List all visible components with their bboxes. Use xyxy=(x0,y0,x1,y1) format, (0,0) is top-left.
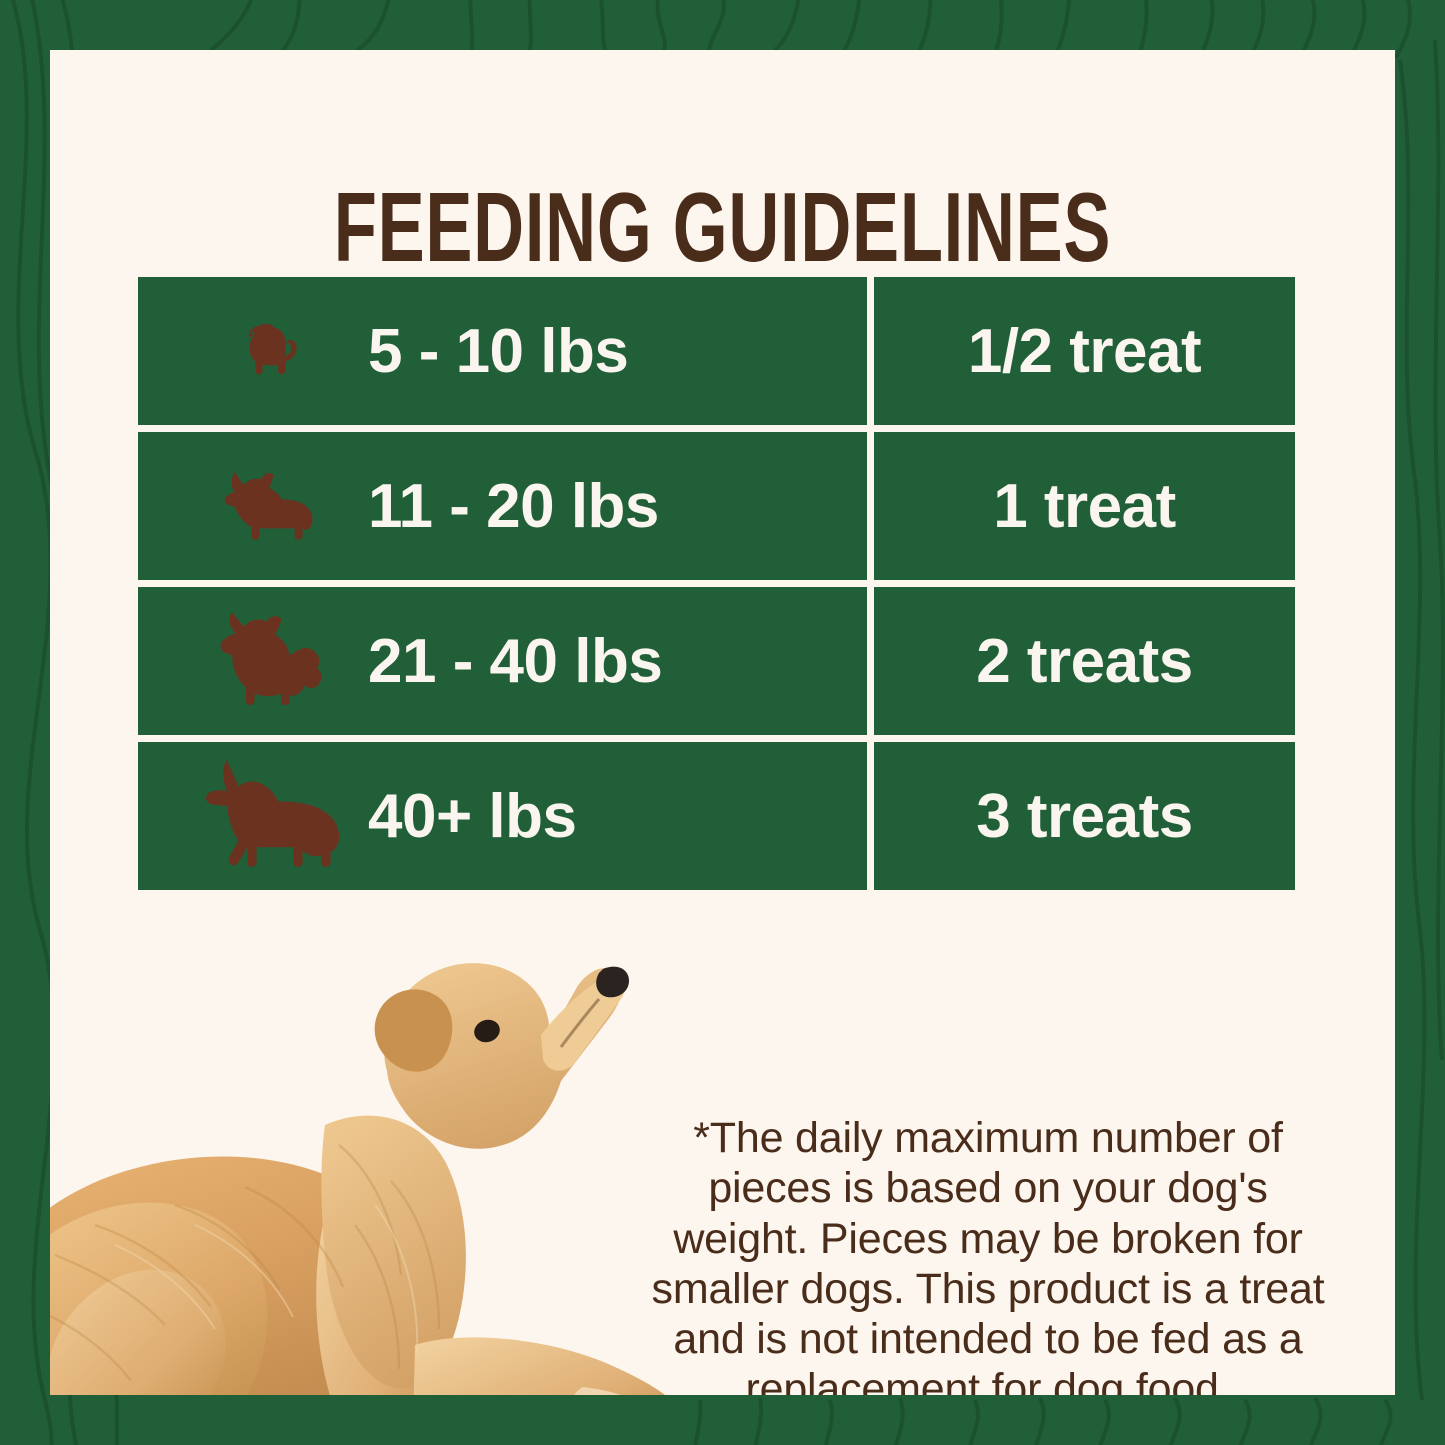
treat-cell: 3 treats xyxy=(874,742,1295,890)
treat-cell: 2 treats xyxy=(874,587,1295,735)
weight-label: 40+ lbs xyxy=(368,781,576,852)
weight-label: 21 - 40 lbs xyxy=(368,626,662,697)
golden-retriever-photo xyxy=(50,925,735,1395)
weight-cell: 11 - 20 lbs xyxy=(138,432,867,580)
feeding-table: 5 - 10 lbs 1/2 treat 11 - 20 lbs xyxy=(138,277,1295,890)
treat-cell: 1/2 treat xyxy=(874,277,1295,425)
weight-cell: 21 - 40 lbs xyxy=(138,587,867,735)
small-dog-icon xyxy=(178,291,368,411)
table-row: 40+ lbs 3 treats xyxy=(138,742,1295,890)
treat-label: 1/2 treat xyxy=(968,316,1201,387)
weight-label: 11 - 20 lbs xyxy=(368,471,659,542)
feeding-guidelines-poster: FEEDING GUIDELINES 5 - 10 lbs 1/2 treat xyxy=(0,0,1445,1445)
table-row: 21 - 40 lbs 2 treats xyxy=(138,587,1295,735)
treat-cell: 1 treat xyxy=(874,432,1295,580)
medium-dog-icon xyxy=(178,601,368,721)
table-row: 5 - 10 lbs 1/2 treat xyxy=(138,277,1295,425)
large-dog-icon xyxy=(178,756,368,876)
treat-label: 2 treats xyxy=(976,626,1193,697)
weight-cell: 5 - 10 lbs xyxy=(138,277,867,425)
content-panel: FEEDING GUIDELINES 5 - 10 lbs 1/2 treat xyxy=(50,50,1395,1395)
weight-cell: 40+ lbs xyxy=(138,742,867,890)
footnote-text: *The daily maximum number of pieces is b… xyxy=(638,1113,1338,1395)
weight-label: 5 - 10 lbs xyxy=(368,316,628,387)
treat-label: 3 treats xyxy=(976,781,1193,852)
table-row: 11 - 20 lbs 1 treat xyxy=(138,432,1295,580)
page-title: FEEDING GUIDELINES xyxy=(238,178,1206,276)
medium-small-dog-icon xyxy=(178,446,368,566)
treat-label: 1 treat xyxy=(993,471,1176,542)
